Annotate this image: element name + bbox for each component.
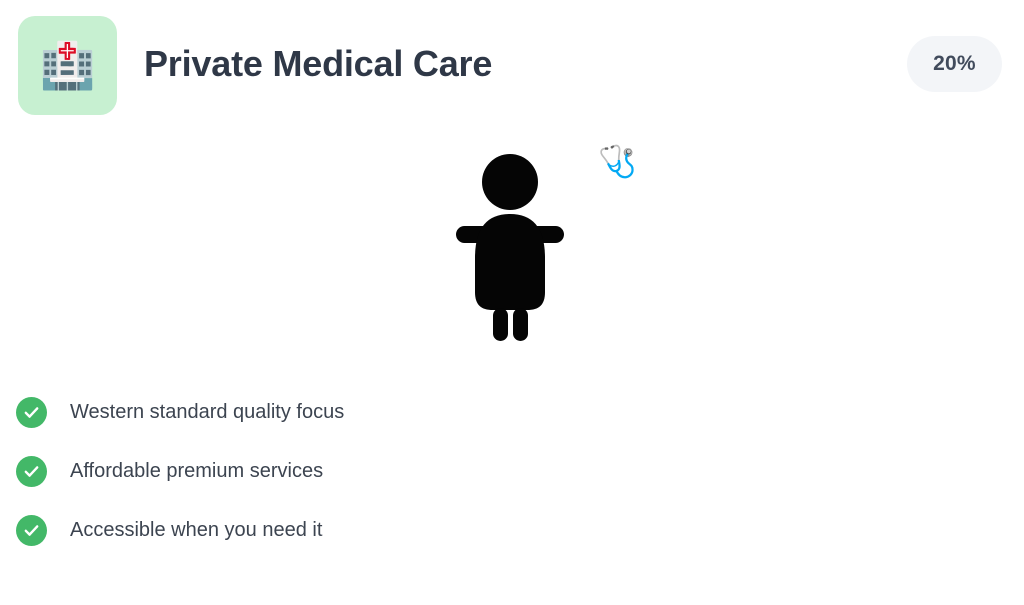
list-item-label: Western standard quality focus (70, 401, 344, 424)
list-item: Accessible when you need it (16, 514, 616, 547)
list-item: Western standard quality focus (16, 396, 616, 429)
list-item-label: Accessible when you need it (70, 519, 322, 542)
slide-header: 🏥 Private Medical Care 20% (0, 0, 1024, 128)
check-icon (16, 456, 47, 487)
percentage-badge: 20% (907, 36, 1002, 92)
slide-root: 🏥 Private Medical Care 20% 🩺 (0, 0, 1024, 605)
patient-silhouette (455, 150, 570, 345)
page-title: Private Medical Care (144, 43, 492, 85)
check-icon-svg (22, 521, 41, 540)
hospital-icon-tile: 🏥 (18, 16, 117, 115)
check-icon-svg (22, 462, 41, 481)
check-icon (16, 397, 47, 428)
benefits-checklist: Western standard quality focus Affordabl… (16, 396, 616, 547)
check-icon-svg (22, 403, 41, 422)
percentage-badge-value: 20% (933, 52, 976, 76)
list-item: Affordable premium services (16, 455, 616, 488)
check-icon (16, 515, 47, 546)
list-item-label: Affordable premium services (70, 460, 323, 483)
hospital-icon: 🏥 (39, 43, 95, 88)
illustration-area: 🩺 (0, 128, 1024, 376)
stethoscope-icon: 🩺 (598, 146, 637, 177)
patient-silhouette-svg (455, 150, 570, 345)
